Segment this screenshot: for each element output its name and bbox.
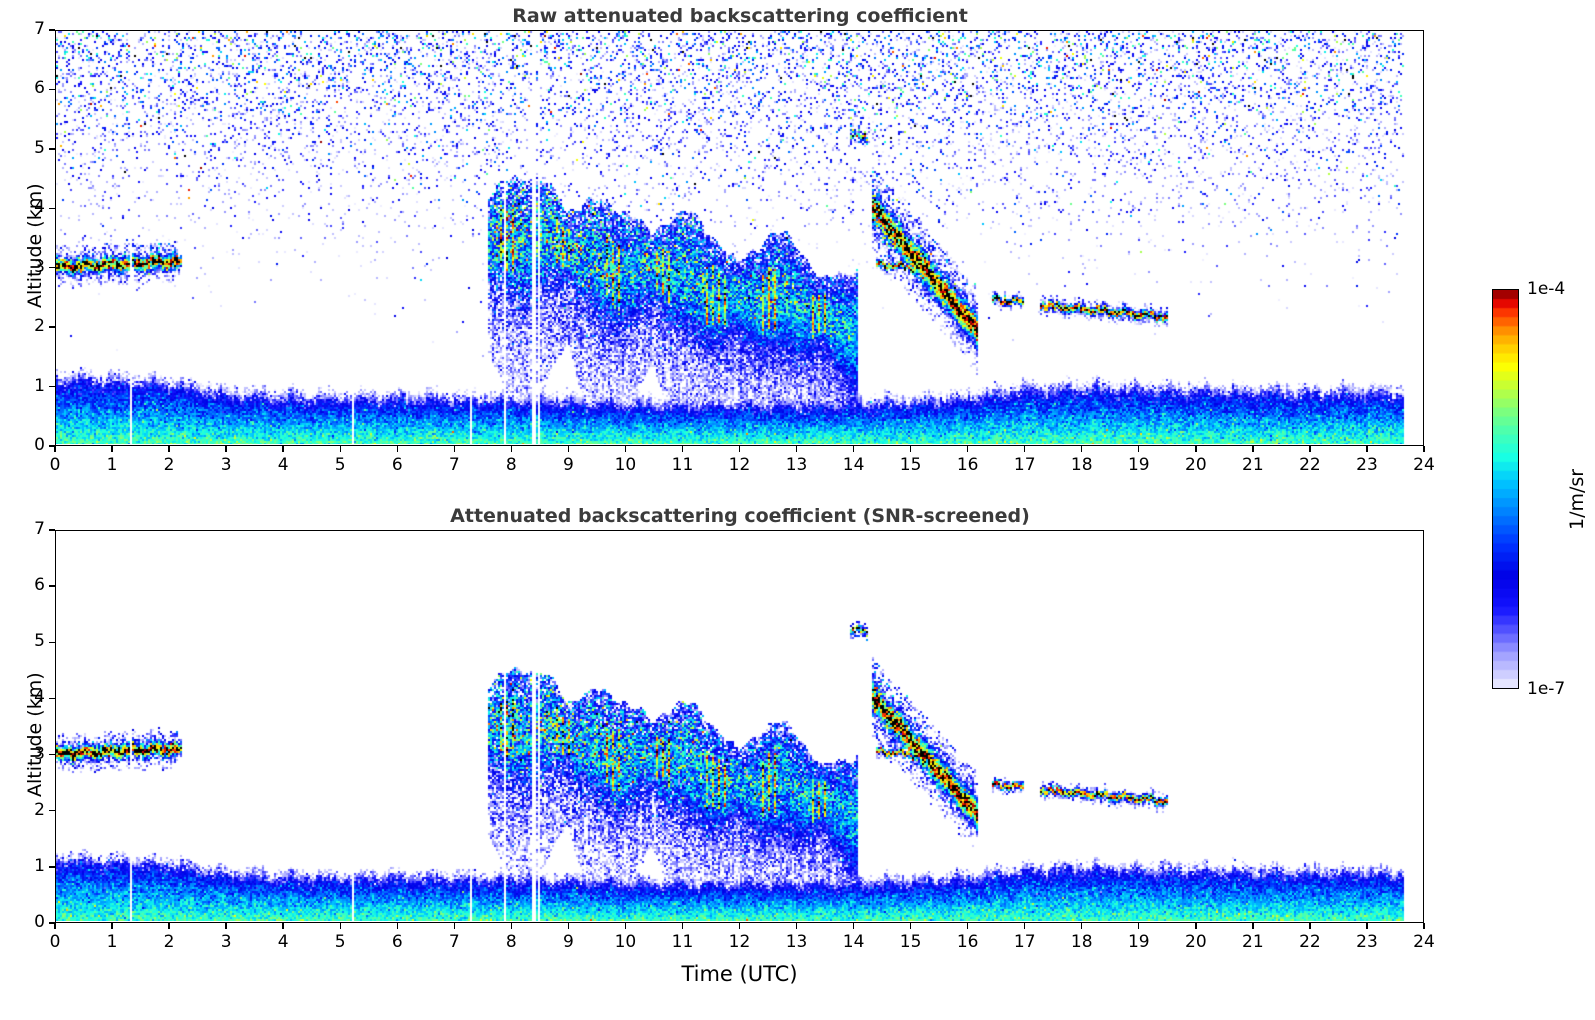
- x-tick: [1138, 923, 1139, 929]
- x-tick: [682, 446, 683, 452]
- x-tick-label: 8: [491, 932, 531, 952]
- y-tick: [49, 267, 55, 268]
- x-tick: [739, 923, 740, 929]
- x-tick-label: 13: [777, 932, 817, 952]
- x-tick: [225, 446, 226, 452]
- y-tick-label: 0: [9, 435, 45, 455]
- plot-area-raw: [55, 30, 1424, 446]
- x-tick-label: 2: [149, 455, 189, 475]
- x-tick-label: 14: [834, 932, 874, 952]
- x-tick-label: 6: [377, 932, 417, 952]
- colorbar: [1492, 289, 1519, 689]
- x-tick: [454, 446, 455, 452]
- x-tick-label: 8: [491, 455, 531, 475]
- y-tick-label: 1: [9, 376, 45, 396]
- colorbar-gradient: [1493, 290, 1518, 688]
- x-tick-label: 7: [434, 932, 474, 952]
- x-tick: [796, 446, 797, 452]
- x-tick-label: 14: [834, 455, 874, 475]
- y-tick-label: 6: [9, 78, 45, 98]
- x-tick: [1024, 923, 1025, 929]
- x-tick: [111, 923, 112, 929]
- x-tick-label: 0: [35, 932, 75, 952]
- y-tick: [49, 754, 55, 755]
- x-tick: [1252, 923, 1253, 929]
- x-tick-label: 24: [1404, 455, 1444, 475]
- y-tick: [49, 810, 55, 811]
- x-tick-label: 9: [548, 932, 588, 952]
- y-tick: [49, 529, 55, 530]
- x-tick-label: 12: [720, 932, 760, 952]
- x-tick: [54, 446, 55, 452]
- y-tick-label: 5: [9, 631, 45, 651]
- x-tick: [1195, 446, 1196, 452]
- x-tick-label: 23: [1347, 455, 1387, 475]
- y-tick: [49, 29, 55, 30]
- colorbar-unit-label: 1/m/sr: [1566, 469, 1588, 530]
- x-tick: [1309, 923, 1310, 929]
- x-tick: [568, 923, 569, 929]
- colorbar-min-label: 1e-7: [1527, 679, 1565, 699]
- x-tick-label: 12: [720, 455, 760, 475]
- x-tick: [168, 446, 169, 452]
- x-tick: [282, 446, 283, 452]
- y-axis-label: Altitude (km): [24, 672, 46, 797]
- x-tick-label: 16: [948, 455, 988, 475]
- x-tick: [625, 446, 626, 452]
- x-axis-label: Time (UTC): [55, 962, 1424, 986]
- x-tick: [111, 446, 112, 452]
- x-tick-label: 20: [1176, 455, 1216, 475]
- y-tick: [49, 585, 55, 586]
- y-tick: [49, 326, 55, 327]
- x-tick-label: 23: [1347, 932, 1387, 952]
- x-tick-label: 22: [1290, 932, 1330, 952]
- x-tick: [1024, 446, 1025, 452]
- y-tick: [49, 866, 55, 867]
- y-tick: [49, 386, 55, 387]
- x-tick-label: 6: [377, 455, 417, 475]
- x-tick-label: 21: [1233, 455, 1273, 475]
- x-tick-label: 22: [1290, 455, 1330, 475]
- x-tick-label: 3: [206, 455, 246, 475]
- x-tick: [853, 923, 854, 929]
- x-tick: [454, 923, 455, 929]
- x-tick: [511, 923, 512, 929]
- x-tick-label: 11: [662, 455, 702, 475]
- y-tick: [49, 642, 55, 643]
- y-tick: [49, 208, 55, 209]
- x-tick-label: 3: [206, 932, 246, 952]
- x-tick: [1309, 446, 1310, 452]
- y-tick-label: 0: [9, 912, 45, 932]
- x-tick: [967, 923, 968, 929]
- x-tick-label: 9: [548, 455, 588, 475]
- x-tick-label: 2: [149, 932, 189, 952]
- panel-title-raw: Raw attenuated backscattering coefficien…: [55, 5, 1425, 27]
- y-tick-label: 2: [9, 800, 45, 820]
- x-tick: [568, 446, 569, 452]
- x-tick: [1366, 446, 1367, 452]
- y-axis-label: Altitude (km): [24, 183, 46, 308]
- x-tick-label: 4: [263, 932, 303, 952]
- y-tick: [49, 445, 55, 446]
- y-tick-label: 5: [9, 138, 45, 158]
- x-tick-label: 19: [1119, 932, 1159, 952]
- x-tick: [739, 446, 740, 452]
- x-tick-label: 7: [434, 455, 474, 475]
- x-tick: [796, 923, 797, 929]
- x-tick-label: 10: [605, 455, 645, 475]
- heatmap-canvas-raw: [56, 31, 1422, 444]
- x-tick: [1423, 923, 1424, 929]
- x-tick-label: 1: [92, 455, 132, 475]
- x-tick: [1195, 923, 1196, 929]
- y-tick-label: 7: [9, 19, 45, 39]
- x-tick-label: 18: [1062, 932, 1102, 952]
- x-tick: [397, 446, 398, 452]
- x-tick: [397, 923, 398, 929]
- x-tick: [967, 446, 968, 452]
- x-tick: [340, 446, 341, 452]
- x-tick: [853, 446, 854, 452]
- x-tick: [1423, 446, 1424, 452]
- x-tick-label: 17: [1005, 932, 1045, 952]
- x-tick-label: 17: [1005, 455, 1045, 475]
- x-tick: [1366, 923, 1367, 929]
- x-tick-label: 0: [35, 455, 75, 475]
- y-tick: [49, 922, 55, 923]
- y-tick-label: 6: [9, 575, 45, 595]
- x-tick: [625, 923, 626, 929]
- x-tick-label: 5: [320, 455, 360, 475]
- x-tick-label: 5: [320, 932, 360, 952]
- x-tick: [340, 923, 341, 929]
- x-tick: [225, 923, 226, 929]
- x-tick-label: 4: [263, 455, 303, 475]
- y-tick-label: 2: [9, 316, 45, 336]
- x-tick: [1252, 446, 1253, 452]
- x-tick: [682, 923, 683, 929]
- x-tick-label: 24: [1404, 932, 1444, 952]
- heatmap-canvas-screened: [56, 531, 1422, 921]
- x-tick-label: 16: [948, 932, 988, 952]
- x-tick: [1081, 923, 1082, 929]
- panel-title-screened: Attenuated backscattering coefficient (S…: [55, 505, 1425, 527]
- x-tick: [511, 446, 512, 452]
- plot-area-screened: [55, 530, 1424, 923]
- x-tick-label: 11: [662, 932, 702, 952]
- x-tick: [1081, 446, 1082, 452]
- x-tick-label: 10: [605, 932, 645, 952]
- x-tick-label: 1: [92, 932, 132, 952]
- x-tick-label: 18: [1062, 455, 1102, 475]
- x-tick: [168, 923, 169, 929]
- y-tick: [49, 89, 55, 90]
- x-tick: [54, 923, 55, 929]
- x-tick: [282, 923, 283, 929]
- x-tick-label: 21: [1233, 932, 1273, 952]
- x-tick-label: 15: [891, 455, 931, 475]
- x-tick: [910, 446, 911, 452]
- x-tick: [910, 923, 911, 929]
- y-tick: [49, 698, 55, 699]
- x-tick-label: 15: [891, 932, 931, 952]
- y-tick: [49, 148, 55, 149]
- x-tick-label: 20: [1176, 932, 1216, 952]
- x-tick: [1138, 446, 1139, 452]
- colorbar-max-label: 1e-4: [1527, 279, 1565, 299]
- y-tick-label: 7: [9, 519, 45, 539]
- y-tick-label: 1: [9, 856, 45, 876]
- lidar-figure: Raw attenuated backscattering coefficien…: [0, 0, 1595, 1020]
- x-tick-label: 13: [777, 455, 817, 475]
- x-tick-label: 19: [1119, 455, 1159, 475]
